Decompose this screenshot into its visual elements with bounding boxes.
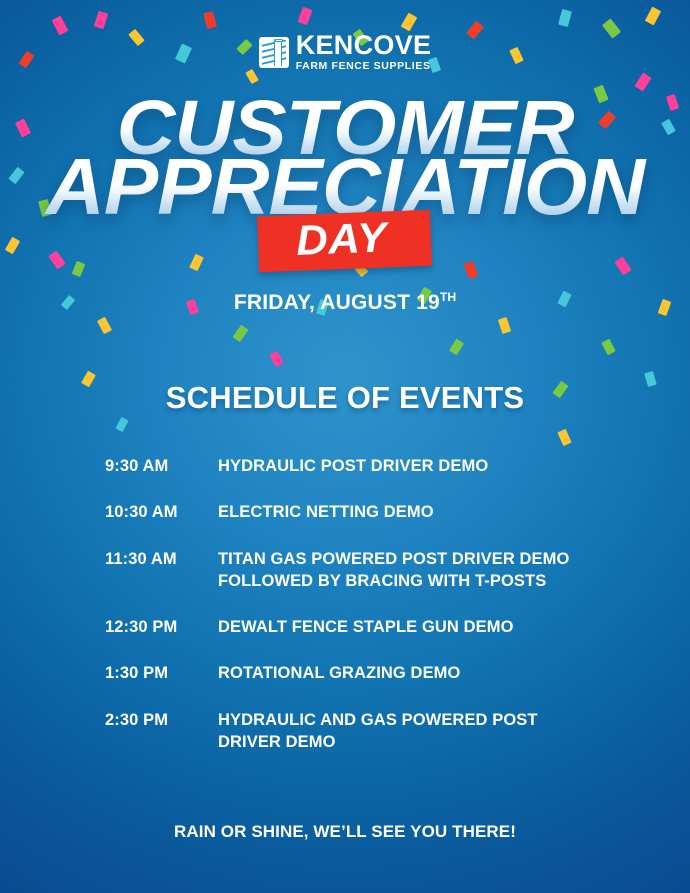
confetti-piece (298, 7, 313, 25)
confetti-piece (269, 351, 284, 368)
schedule-time: 12:30 PM (105, 616, 218, 638)
confetti-piece (449, 339, 464, 356)
fence-post-logo-icon (259, 37, 289, 68)
confetti-piece (233, 325, 249, 342)
schedule-description-line: HYDRAULIC POST DRIVER DEMO (218, 455, 488, 477)
schedule-time: 1:30 PM (105, 662, 218, 684)
schedule-description-line: HYDRAULIC AND GAS POWERED POST (218, 709, 538, 731)
brand-tagline: FARM FENCE SUPPLIES (296, 61, 432, 72)
confetti-piece (245, 69, 258, 84)
confetti-piece (401, 13, 418, 32)
confetti-piece (115, 417, 128, 432)
confetti-piece (94, 11, 108, 29)
schedule-row: 10:30 AMELECTRIC NETTING DEMO (105, 501, 650, 523)
kencove-logo: KENCOVE FARM FENCE SUPPLIES (0, 33, 690, 71)
schedule-description: HYDRAULIC POST DRIVER DEMO (218, 455, 488, 477)
brand-name: KENCOVE (296, 33, 432, 59)
schedule-description-line: DEWALT FENCE STAPLE GUN DEMO (218, 616, 514, 638)
day-badge-label: DAY (296, 216, 388, 261)
confetti-piece (97, 317, 112, 334)
footer-note: RAIN OR SHINE, WE’LL SEE YOU THERE! (0, 822, 690, 842)
schedule-row: 2:30 PMHYDRAULIC AND GAS POWERED POSTDRI… (105, 709, 650, 754)
headline: CUSTOMER APPRECIATION (0, 96, 690, 220)
schedule-description: ELECTRIC NETTING DEMO (218, 501, 434, 523)
schedule-time: 11:30 AM (105, 548, 218, 570)
event-date-ordinal: TH (440, 290, 456, 304)
schedule-row: 12:30 PMDEWALT FENCE STAPLE GUN DEMO (105, 616, 650, 638)
confetti-piece (645, 7, 661, 26)
confetti-piece (557, 429, 571, 446)
schedule-description: ROTATIONAL GRAZING DEMO (218, 662, 460, 684)
schedule-heading: SCHEDULE OF EVENTS (0, 380, 690, 416)
schedule-time: 2:30 PM (105, 709, 218, 731)
schedule-row: 9:30 AMHYDRAULIC POST DRIVER DEMO (105, 455, 650, 477)
confetti-piece (601, 339, 616, 356)
schedule-time: 10:30 AM (105, 501, 218, 523)
schedule-description-line: ELECTRIC NETTING DEMO (218, 501, 434, 523)
confetti-piece (203, 11, 217, 29)
schedule-row: 1:30 PMROTATIONAL GRAZING DEMO (105, 662, 650, 684)
confetti-piece (634, 73, 651, 92)
schedule-description-line: DRIVER DEMO (218, 731, 538, 753)
customer-appreciation-poster: KENCOVE FARM FENCE SUPPLIES CUSTOMER APP… (0, 0, 690, 893)
schedule-description-line: TITAN GAS POWERED POST DRIVER DEMO (218, 548, 569, 570)
schedule-description: DEWALT FENCE STAPLE GUN DEMO (218, 616, 514, 638)
schedule-time: 9:30 AM (105, 455, 218, 477)
day-badge-wrap: DAY (0, 213, 690, 269)
event-date: FRIDAY, AUGUST 19TH (0, 290, 690, 315)
schedule-description-line: ROTATIONAL GRAZING DEMO (218, 662, 460, 684)
event-date-text: FRIDAY, AUGUST 19 (234, 291, 440, 314)
confetti-piece (558, 9, 572, 27)
day-badge: DAY (257, 210, 432, 273)
confetti-piece (498, 317, 511, 334)
headline-line-2: APPRECIATION (0, 153, 690, 220)
schedule-description: HYDRAULIC AND GAS POWERED POSTDRIVER DEM… (218, 709, 538, 754)
schedule-description-line: FOLLOWED BY BRACING WITH T-POSTS (218, 570, 569, 592)
schedule-description: TITAN GAS POWERED POST DRIVER DEMOFOLLOW… (218, 548, 569, 593)
schedule-row: 11:30 AMTITAN GAS POWERED POST DRIVER DE… (105, 548, 650, 593)
schedule-list: 9:30 AMHYDRAULIC POST DRIVER DEMO10:30 A… (105, 455, 650, 777)
